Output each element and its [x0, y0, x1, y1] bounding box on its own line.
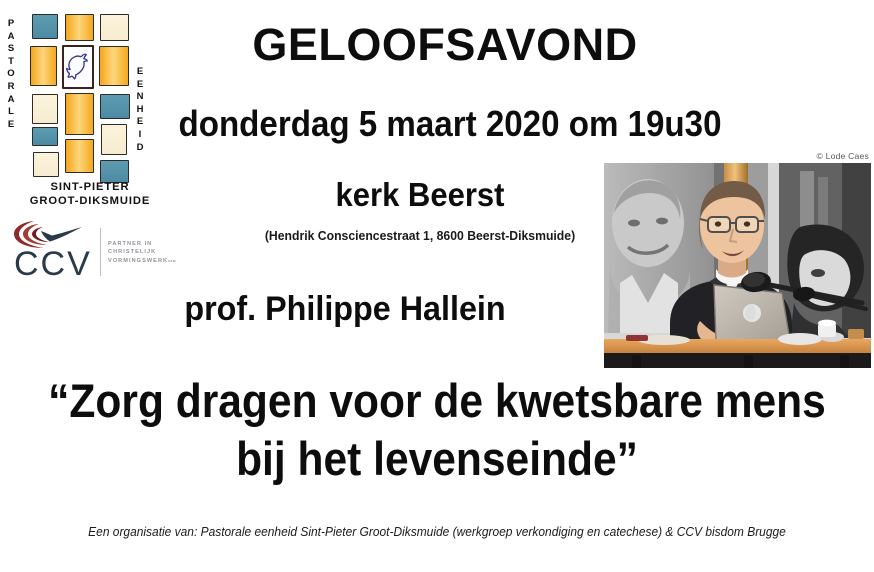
quote-line-1: “Zorg dragen voor de kwetsbare mens [42, 372, 833, 430]
ccv-tagline-line1: PARTNER IN [108, 240, 186, 248]
poster-address: (Hendrik Consciencestraat 1, 8600 Beerst… [187, 228, 653, 245]
parish-logo-tile-grid [28, 14, 132, 174]
logo-tile [65, 93, 94, 135]
logo-tile [100, 94, 130, 119]
logo-tile [32, 14, 58, 39]
ccv-divider [100, 228, 101, 276]
poster-title: GELOOFSAVOND [175, 18, 715, 72]
quote-line-2: bij het levenseinde” [42, 430, 833, 488]
poster-footer: Een organisatie van: Pastorale eenheid S… [22, 525, 852, 539]
logo-tile [101, 124, 127, 155]
poster-datetime: donderdag 5 maart 2020 om 19u30 [174, 102, 726, 146]
ccv-tagline-line3-wrap: VORMINGSWERKvzw [108, 257, 186, 265]
logo-tile [99, 46, 129, 86]
parish-logo-name: SINT-PIETER GROOT-DIKSMUIDE [10, 180, 170, 208]
logo-tile [32, 127, 58, 146]
logo-tile [65, 139, 94, 173]
ccv-wordmark: CCV [14, 247, 92, 281]
logo-block: PASTORALE EENHEID [0, 0, 200, 300]
poster-quote: “Zorg dragen voor de kwetsbare mens bij … [0, 372, 874, 488]
logo-tile-dove [62, 45, 94, 89]
parish-logo-word-eenheid: EENHEID [133, 66, 147, 154]
speaker-photo-image [604, 163, 871, 368]
logo-tile [100, 14, 129, 41]
ccv-tagline-line2: CHRISTELIJK [108, 248, 186, 256]
logo-tile [32, 94, 58, 124]
logo-tile [30, 46, 57, 86]
photo-credit: © Lode Caes [817, 151, 870, 161]
ccv-logo: CCV PARTNER IN CHRISTELIJK VORMINGSWERKv… [12, 218, 182, 280]
parish-name-line2: GROOT-DIKSMUIDE [10, 194, 170, 208]
logo-tile [65, 14, 94, 41]
speaker-photo-wrap: © Lode Caes [604, 163, 871, 368]
poster-speaker: prof. Philippe Hallein [122, 288, 569, 330]
parish-logo: PASTORALE EENHEID [0, 4, 175, 219]
poster-venue: kerk Beerst [194, 175, 645, 215]
logo-tile [33, 152, 59, 177]
ccv-tagline-suffix: vzw [168, 259, 176, 263]
speaker-photo [604, 163, 871, 368]
ccv-tagline-line3: VORMINGSWERK [108, 258, 168, 264]
poster: PASTORALE EENHEID [0, 0, 874, 572]
parish-name-line1: SINT-PIETER [10, 180, 170, 194]
ccv-tagline: PARTNER IN CHRISTELIJK VORMINGSWERKvzw [108, 240, 186, 265]
dove-icon [64, 47, 92, 87]
parish-logo-word-pastorale: PASTORALE [4, 18, 18, 131]
